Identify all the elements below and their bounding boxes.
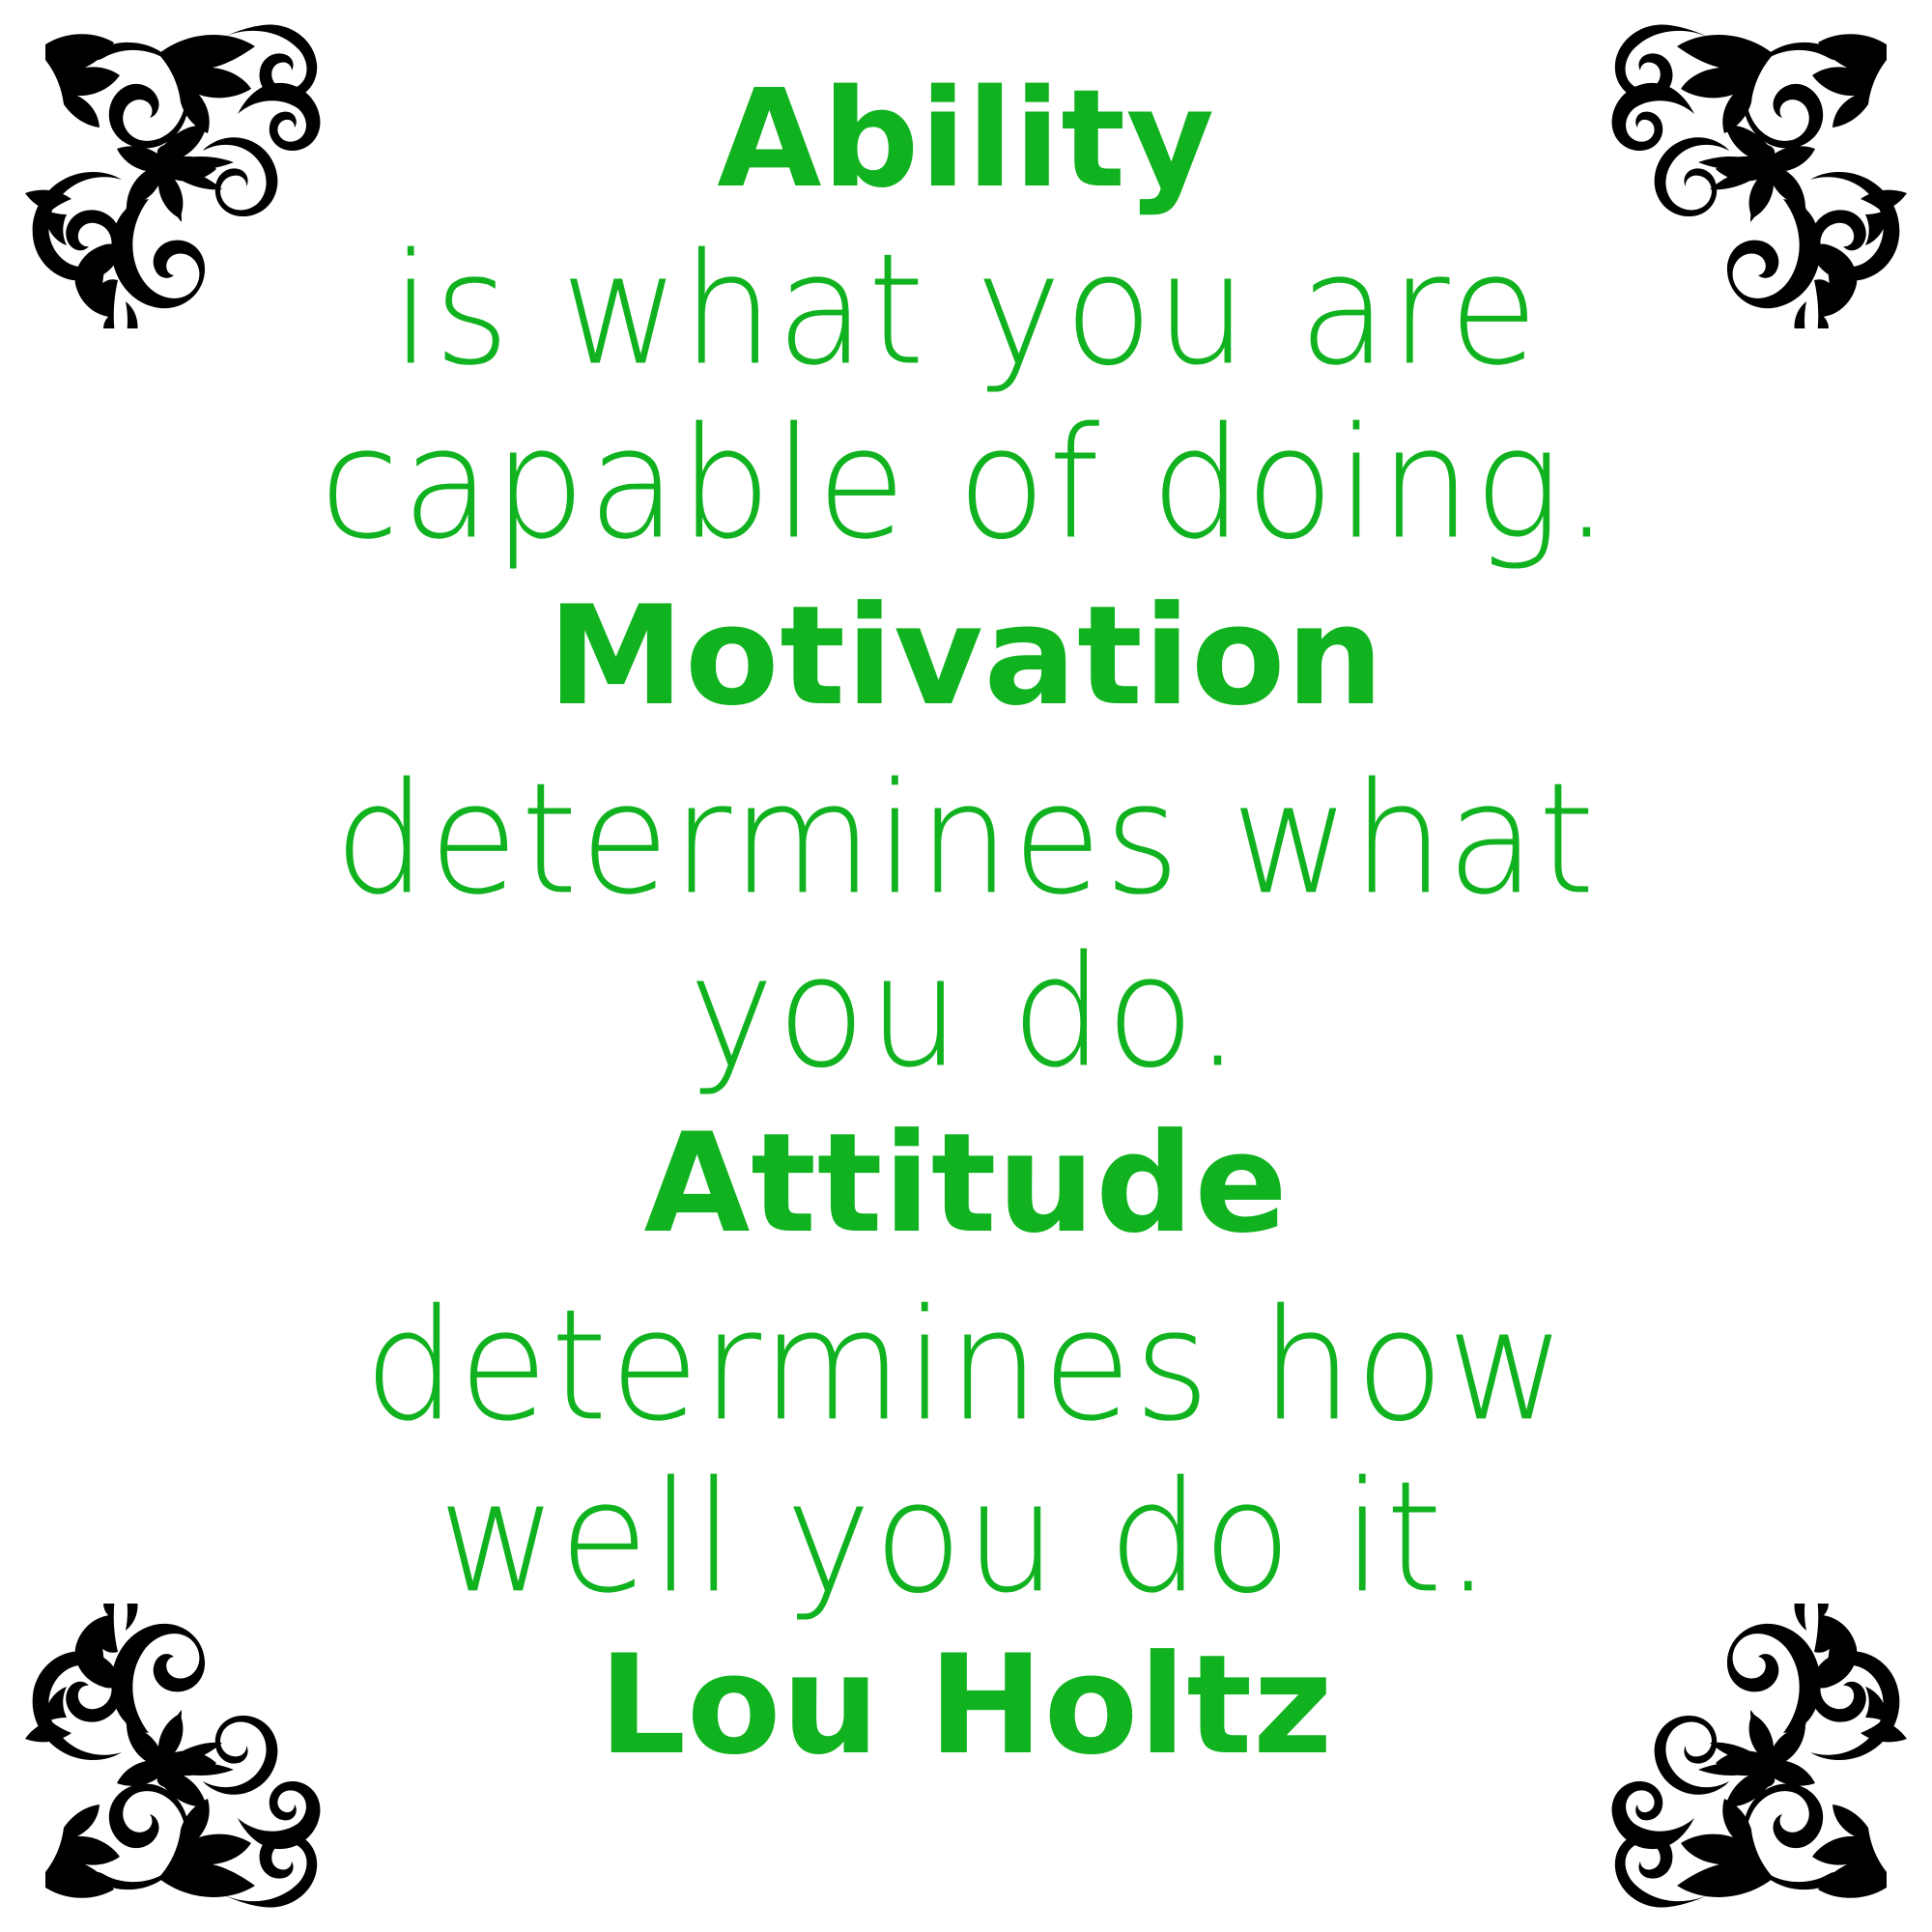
- quote-line-you-do: you do.: [116, 922, 1816, 1104]
- quote-author: Lou Holtz: [116, 1620, 1816, 1793]
- quote-text-block: Ability is what you are capable of doing…: [0, 0, 1932, 1793]
- quote-line-well-you-do-it: well you do it.: [116, 1447, 1816, 1630]
- quote-line-is-what-you-are: is what you are: [116, 218, 1816, 403]
- quote-line-determines-how: determines how: [116, 1275, 1816, 1458]
- quote-line-attitude: Attitude: [116, 1094, 1816, 1274]
- quote-line-motivation: Motivation: [116, 566, 1816, 749]
- quote-poster: Ability is what you are capable of doing…: [0, 0, 1932, 1932]
- quote-line-ability: Ability: [116, 62, 1816, 218]
- quote-line-capable-of-doing: capable of doing.: [116, 392, 1816, 577]
- quote-line-determines-what: determines what: [116, 749, 1816, 931]
